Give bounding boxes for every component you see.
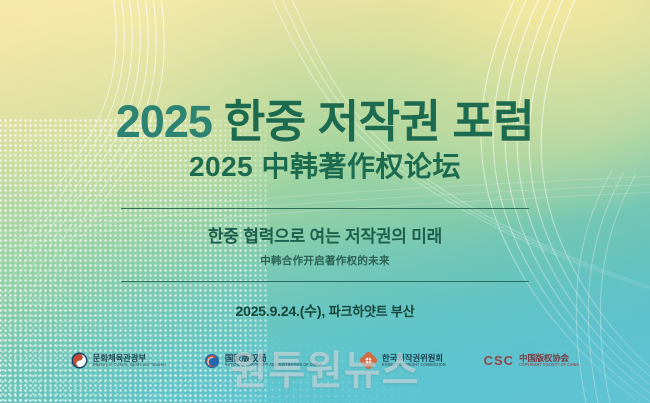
poster-subtitle-korean: 한중 협력으로 여는 저작권의 미래 xyxy=(208,222,442,247)
divider-bottom xyxy=(121,281,529,282)
logo-name-en: COPYRIGHT SOCIETY OF CHINA xyxy=(519,363,579,368)
taegeuk-icon xyxy=(71,352,88,369)
sponsor-logo-strip: 문화체육관광부 Ministry of Culture, Sports and … xyxy=(0,352,650,369)
poster-title-year: 2025 xyxy=(116,96,212,147)
poster-title-korean-text: 한중 저작권 포럼 xyxy=(224,96,534,147)
logo-copyright-society-of-china: CSC 中国版权协会 COPYRIGHT SOCIETY OF CHINA xyxy=(484,353,580,368)
logo-text-block: 中国版权协会 COPYRIGHT SOCIETY OF CHINA xyxy=(519,354,579,368)
event-venue: 파크하얏트 부산 xyxy=(329,304,415,319)
logo-name-en: KOREA COPYRIGHT COMMISSION xyxy=(382,363,446,368)
poster-content: 2025 한중 저작권 포럼 2025 中韩著作权论坛 한중 협력으로 여는 저… xyxy=(0,0,650,403)
event-date: 2025.9.24.(수) xyxy=(236,303,322,319)
poster-subtitle-chinese: 中韩合作开启著作权的未来 xyxy=(260,253,390,268)
forum-poster: 2025 한중 저작권 포럼 2025 中韩著作权论坛 한중 협력으로 여는 저… xyxy=(0,0,650,403)
logo-name-en: Ministry of Culture, Sports and Tourism xyxy=(93,363,166,368)
logo-text-block: 한국저작권위원회 KOREA COPYRIGHT COMMISSION xyxy=(382,354,446,368)
logo-text-block: 国家版权局 NATIONAL COPYRIGHT ADMINISTRATION … xyxy=(225,354,322,368)
logo-name-en: NATIONAL COPYRIGHT ADMINISTRATION OF CHI… xyxy=(225,363,322,368)
event-date-venue: 2025.9.24.(수), 파크하얏트 부산 xyxy=(236,301,415,321)
logo-text-block: 문화체육관광부 Ministry of Culture, Sports and … xyxy=(93,354,166,368)
divider-top xyxy=(121,208,529,209)
diamond-icon xyxy=(360,352,377,369)
logo-korea-ministry-culture-sports-tourism: 문화체육관광부 Ministry of Culture, Sports and … xyxy=(71,352,166,369)
logo-china-national-copyright-administration: 国家版权局 NATIONAL COPYRIGHT ADMINISTRATION … xyxy=(204,353,322,369)
poster-title-korean: 2025 한중 저작권 포럼 xyxy=(116,99,534,144)
csc-blocks-icon: CSC xyxy=(484,353,514,368)
poster-title-chinese: 2025 中韩著作权论坛 xyxy=(189,153,461,181)
swirl-icon xyxy=(204,353,220,369)
logo-korea-copyright-commission: 한국저작권위원회 KOREA COPYRIGHT COMMISSION xyxy=(360,352,446,369)
